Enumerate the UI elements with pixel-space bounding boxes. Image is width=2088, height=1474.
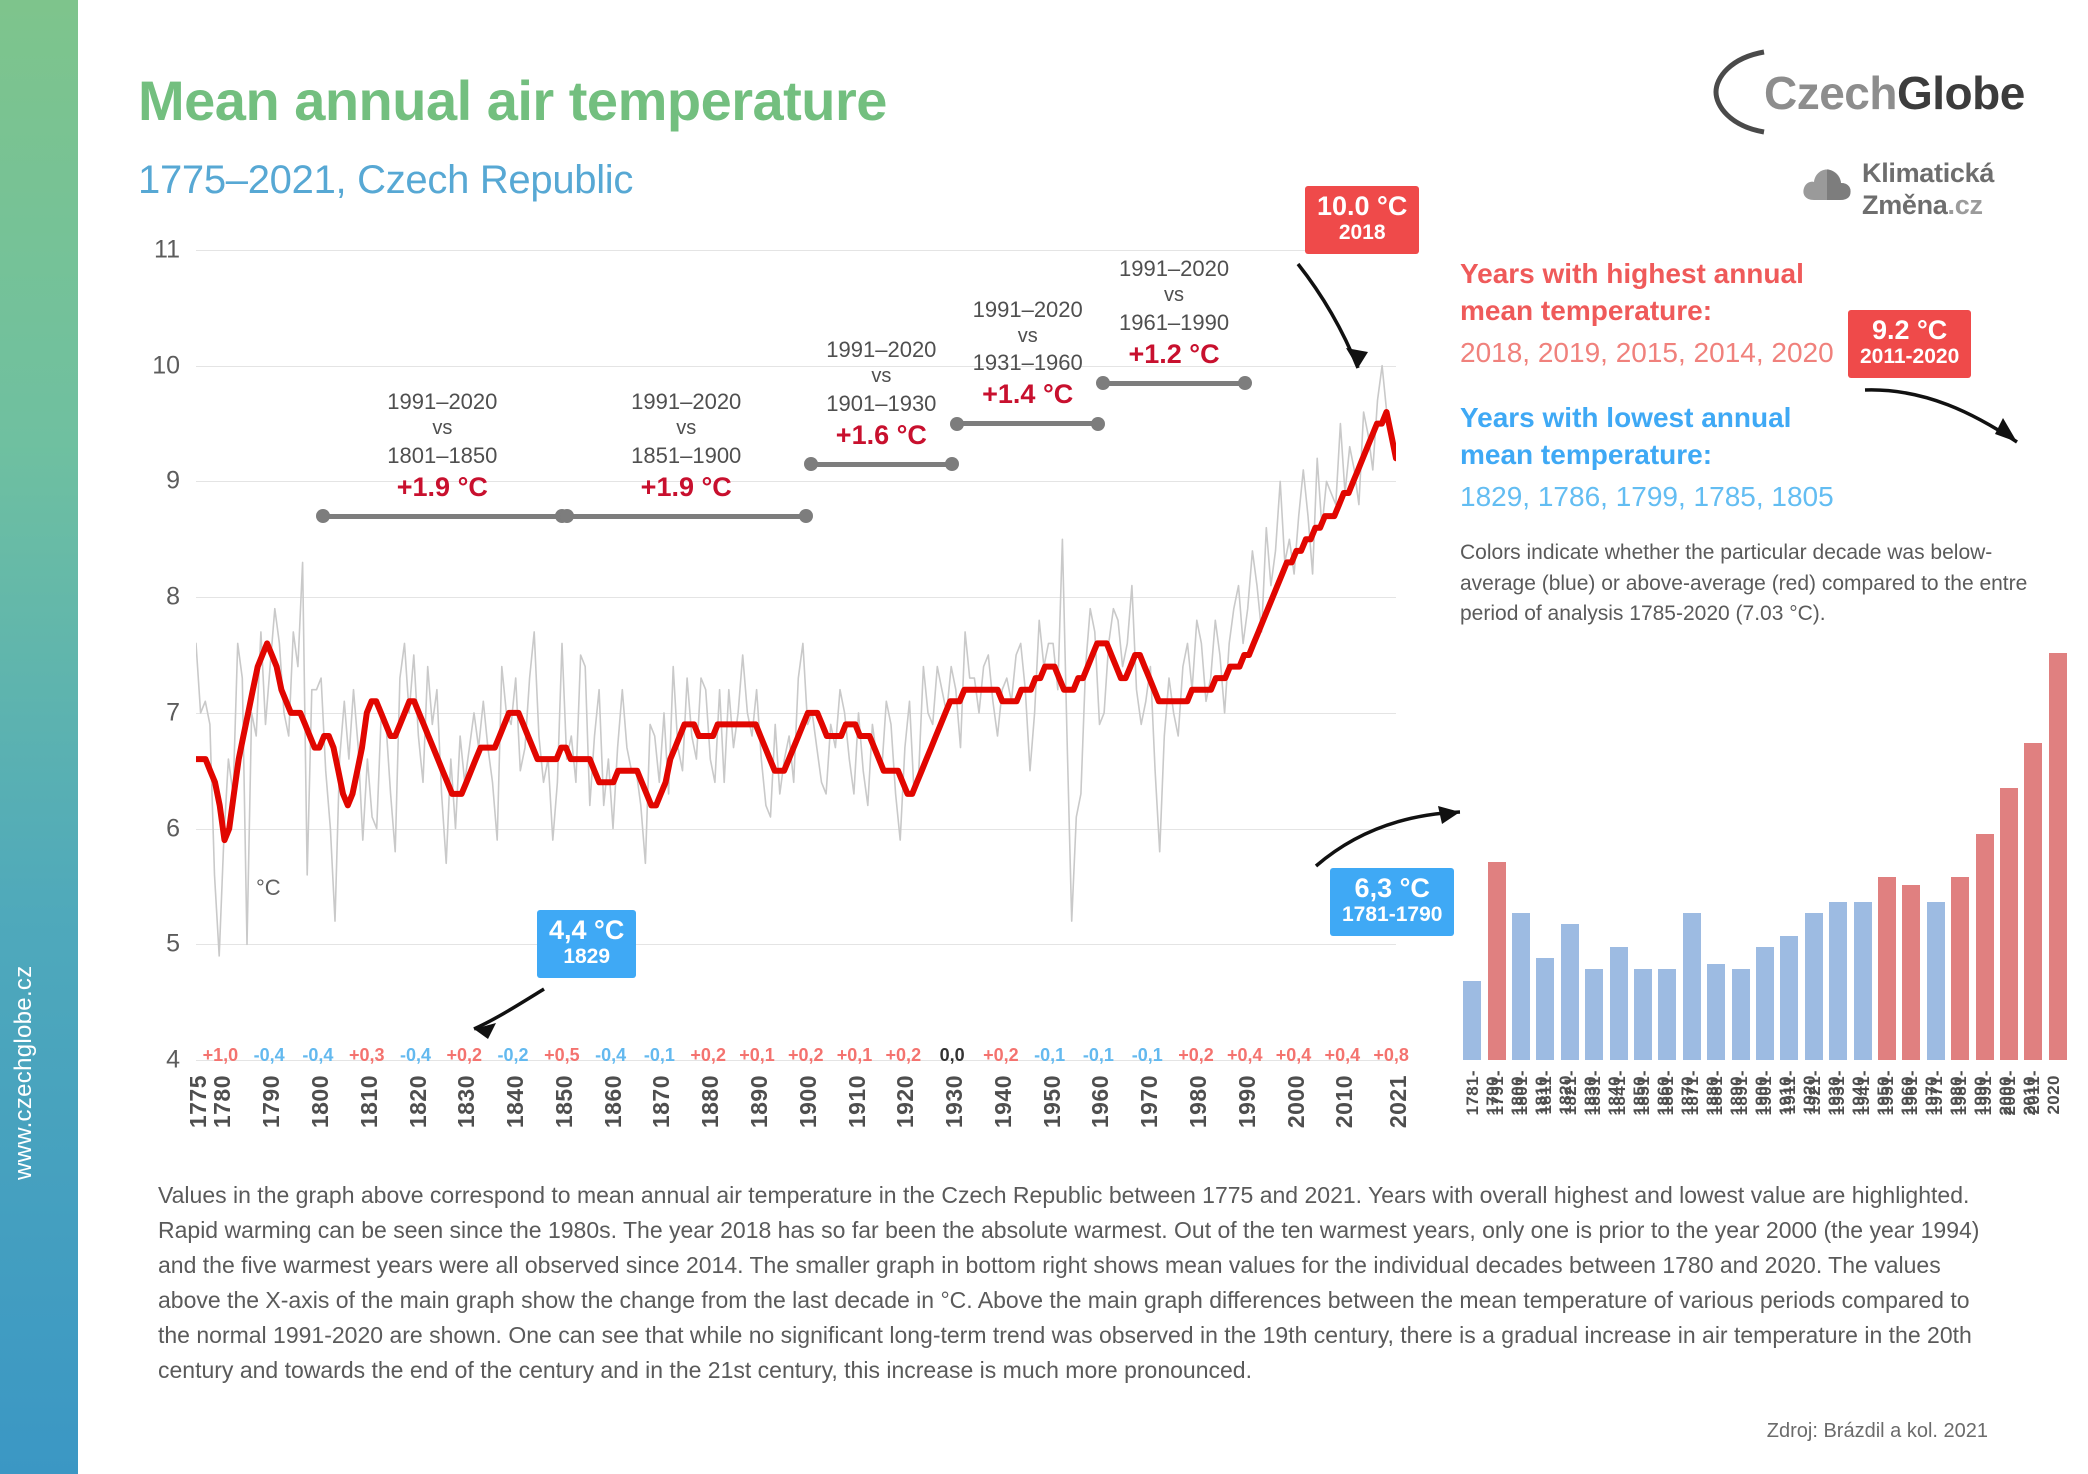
- brand-sidebar: www.czechglobe.cz: [0, 0, 78, 1474]
- czechglobe-word-globe: Globe: [1897, 67, 2025, 119]
- decadal-change-value: -0,1: [1034, 1045, 1065, 1066]
- x-axis-tick: 1870: [648, 1075, 675, 1128]
- comparison-vs: vs: [826, 364, 936, 390]
- klimaticka-line1: Klimatická: [1862, 158, 1994, 190]
- comparison-range-endpoint: [1096, 376, 1110, 390]
- decadal-change-value: -0,1: [1083, 1045, 1114, 1066]
- decade-label: 2011-2020: [2024, 1070, 2064, 1115]
- decade-bar: [1634, 969, 1652, 1060]
- source-credit: Zdroj: Brázdil a kol. 2021: [1767, 1420, 1988, 1443]
- comparison-range-bar: [811, 462, 952, 467]
- decade-bar: [1463, 981, 1481, 1060]
- y-axis-tick: 9: [140, 467, 180, 496]
- decadal-change-value: -0,4: [400, 1045, 431, 1066]
- comparison-period-b: 1901–1930: [826, 390, 936, 418]
- decade-bar: [1976, 834, 1994, 1060]
- decade-bar: [1512, 913, 1530, 1060]
- callout-warmest-decade-value: 9.2 °C: [1860, 316, 1959, 344]
- comparison-value: +1.9 °C: [631, 472, 741, 503]
- x-axis-tick: 1970: [1136, 1075, 1163, 1128]
- description-paragraph: Values in the graph above correspond to …: [158, 1178, 1988, 1388]
- page-subtitle: 1775–2021, Czech Republic: [138, 158, 633, 203]
- comparison-value: +1.9 °C: [387, 472, 497, 503]
- x-axis-tick: 1820: [405, 1075, 432, 1128]
- callout-warmest-decade: 9.2 °C 2011-2020: [1848, 310, 1971, 378]
- main-temperature-chart: °C 1110987654 1991–2020vs1801–1850+1.9 °…: [138, 230, 1438, 1080]
- comparison-range-endpoint: [945, 457, 959, 471]
- x-axis-tick: 1800: [307, 1075, 334, 1128]
- x-axis-tick: 2021: [1385, 1075, 1412, 1128]
- decade-bar: [1707, 964, 1725, 1060]
- decadal-change-value: -0,4: [254, 1045, 285, 1066]
- comparison-range-endpoint: [1091, 417, 1105, 431]
- x-axis-tick: 1920: [892, 1075, 919, 1128]
- comparison-label: 1991–2020vs1851–1900+1.9 °C: [631, 388, 741, 503]
- klimaticka-line2: Změna: [1862, 190, 1948, 220]
- czechglobe-word-czech: Czech: [1764, 67, 1897, 119]
- comparison-value: +1.2 °C: [1119, 339, 1229, 370]
- x-axis-tick: 1990: [1234, 1075, 1261, 1128]
- callout-warmest-decade-period: 2011-2020: [1860, 344, 1959, 369]
- klimaticka-zmena-logo: Klimatická Změna.cz: [1800, 158, 2068, 230]
- y-axis-tick: 6: [140, 814, 180, 843]
- x-axis-tick: 1910: [844, 1075, 871, 1128]
- czechglobe-arc-icon: [1712, 48, 1772, 136]
- decade-bar: [1561, 924, 1579, 1060]
- comparison-label: 1991–2020vs1901–1930+1.6 °C: [826, 336, 936, 451]
- y-axis-tick: 11: [140, 236, 180, 265]
- comparison-range-bar: [957, 421, 1098, 426]
- comparison-period-b: 1851–1900: [631, 442, 741, 470]
- decadal-change-value: +0,2: [886, 1045, 922, 1066]
- comparison-range-endpoint: [799, 509, 813, 523]
- x-axis-tick: 1780: [209, 1075, 236, 1128]
- page-title: Mean annual air temperature: [138, 68, 887, 133]
- czechglobe-logo: CzechGlobe: [1712, 48, 2068, 136]
- main-plot-area: 1110987654 1991–2020vs1801–1850+1.9 °C19…: [196, 250, 1396, 1060]
- comparison-range-endpoint: [950, 417, 964, 431]
- comparison-period-a: 1991–2020: [1119, 255, 1229, 283]
- decade-bar: [1951, 877, 1969, 1060]
- comparison-period-a: 1991–2020: [973, 296, 1083, 324]
- decade-bar: [1683, 913, 1701, 1060]
- decade-bar: [1536, 958, 1554, 1060]
- decade-bar: [1488, 862, 1506, 1060]
- comparison-range-endpoint: [804, 457, 818, 471]
- decade-bar: [1927, 902, 1945, 1060]
- decade-bar: [1878, 877, 1896, 1060]
- comparison-range-bar: [567, 514, 806, 519]
- callout-coldest-decade-period: 1781-1790: [1342, 902, 1442, 927]
- decadal-change-value: +1,0: [203, 1045, 239, 1066]
- comparison-vs: vs: [973, 324, 1083, 350]
- klimaticka-wordmark: Klimatická Změna.cz: [1862, 158, 1994, 222]
- x-axis-tick: 1950: [1039, 1075, 1066, 1128]
- comparison-value: +1.6 °C: [826, 420, 936, 451]
- callout-coldest-year: 4,4 °C 1829: [537, 910, 636, 978]
- x-axis-tick: 1880: [697, 1075, 724, 1128]
- x-axis-tick: 1980: [1185, 1075, 1212, 1128]
- x-axis-tick: 1940: [990, 1075, 1017, 1128]
- comparison-vs: vs: [387, 416, 497, 442]
- decadal-change-value: +0,4: [1276, 1045, 1312, 1066]
- x-axis-tick: 1860: [600, 1075, 627, 1128]
- callout-coldest-value: 4,4 °C: [549, 916, 624, 944]
- callout-coldest-decade-value: 6,3 °C: [1342, 874, 1442, 902]
- x-axis-tick: 1900: [795, 1075, 822, 1128]
- decade-bar: [1732, 969, 1750, 1060]
- callout-coldest-year-label: 1829: [549, 944, 624, 969]
- y-axis-tick: 4: [140, 1046, 180, 1075]
- cloud-icon: [1800, 164, 1854, 204]
- callout-warmest-year: 10.0 °C 2018: [1305, 186, 1419, 254]
- y-axis-tick: 8: [140, 583, 180, 612]
- comparison-vs: vs: [631, 416, 741, 442]
- comparison-period-b: 1961–1990: [1119, 309, 1229, 337]
- decade-bar: [1610, 947, 1628, 1060]
- comparison-range-endpoint: [560, 509, 574, 523]
- arrow-to-warmest-decade-bar: [1855, 372, 2055, 482]
- decadal-change-value: +0,8: [1373, 1045, 1409, 1066]
- y-axis-tick: 5: [140, 930, 180, 959]
- comparison-range-bar: [1103, 381, 1244, 386]
- x-axis-tick: 1840: [502, 1075, 529, 1128]
- comparison-period-a: 1991–2020: [387, 388, 497, 416]
- highest-years-heading-line1: Years with highest annual: [1460, 255, 2060, 292]
- lowest-years-list: 1829, 1786, 1799, 1785, 1805: [1460, 477, 2060, 516]
- decadal-change-value: +0,4: [1227, 1045, 1263, 1066]
- x-axis-tick: 1930: [941, 1075, 968, 1128]
- decade-bar: [1805, 913, 1823, 1060]
- x-axis-tick: 1830: [453, 1075, 480, 1128]
- x-axis-tick: 2000: [1283, 1075, 1310, 1128]
- x-axis-tick: 1960: [1087, 1075, 1114, 1128]
- sidebar-website-url[interactable]: www.czechglobe.cz: [10, 880, 38, 1180]
- comparison-value: +1.4 °C: [973, 379, 1083, 410]
- decadal-change-value: -0,4: [595, 1045, 626, 1066]
- klimaticka-tld: .cz: [1948, 190, 1983, 220]
- decade-bar: [1756, 947, 1774, 1060]
- x-axis-tick: 2010: [1331, 1075, 1358, 1128]
- comparison-vs: vs: [1119, 283, 1229, 309]
- y-axis-tick: 7: [140, 698, 180, 727]
- decade-bar: [1829, 902, 1847, 1060]
- decade-bar: [2000, 788, 2018, 1060]
- callout-warmest-year-label: 2018: [1317, 220, 1407, 245]
- decadal-change-value: +0,3: [349, 1045, 385, 1066]
- decade-bar: [1780, 936, 1798, 1060]
- y-axis-tick: 10: [140, 351, 180, 380]
- decade-bar: [1902, 885, 1920, 1060]
- comparison-period-a: 1991–2020: [826, 336, 936, 364]
- x-axis-tick: 1850: [551, 1075, 578, 1128]
- decade-bar: [2024, 743, 2042, 1060]
- decadal-change-value: 0,0: [940, 1045, 965, 1066]
- decadal-change-value: +0,1: [837, 1045, 873, 1066]
- temperature-series: [196, 250, 1396, 1060]
- decadal-change-value: -0,4: [302, 1045, 333, 1066]
- comparison-period-a: 1991–2020: [631, 388, 741, 416]
- comparison-label: 1991–2020vs1931–1960+1.4 °C: [973, 296, 1083, 411]
- decadal-change-value: +0,1: [739, 1045, 775, 1066]
- czechglobe-wordmark: CzechGlobe: [1764, 66, 2025, 120]
- arrow-to-coldest-decade-bar: [1300, 778, 1480, 878]
- decade-bar-chart: 1781-17901791-18001801-18101811-18201821…: [1460, 630, 2070, 1060]
- decadal-change-value: -0,1: [1132, 1045, 1163, 1066]
- arrow-to-coldest-point: [448, 975, 558, 1055]
- decadal-change-value: +0,4: [1325, 1045, 1361, 1066]
- decade-bar: [1585, 969, 1603, 1060]
- comparison-period-b: 1931–1960: [973, 349, 1083, 377]
- decade-bar: [1658, 969, 1676, 1060]
- comparison-label: 1991–2020vs1961–1990+1.2 °C: [1119, 255, 1229, 370]
- comparison-range-endpoint: [316, 509, 330, 523]
- x-axis-tick: 1790: [258, 1075, 285, 1128]
- decadal-change-value: +0,2: [983, 1045, 1019, 1066]
- decadal-change-value: -0,1: [644, 1045, 675, 1066]
- comparison-period-b: 1801–1850: [387, 442, 497, 470]
- annual-mean-line: [196, 366, 1396, 956]
- decade-bar: [1854, 902, 1872, 1060]
- comparison-label: 1991–2020vs1801–1850+1.9 °C: [387, 388, 497, 503]
- decadal-change-value: +0,2: [690, 1045, 726, 1066]
- x-axis-tick: 1810: [356, 1075, 383, 1128]
- callout-warmest-value: 10.0 °C: [1317, 192, 1407, 220]
- decadal-change-value: +0,2: [1178, 1045, 1214, 1066]
- x-axis-tick: 1890: [746, 1075, 773, 1128]
- callout-coldest-decade: 6,3 °C 1781-1790: [1330, 868, 1454, 936]
- arrow-to-warmest-point: [1250, 250, 1400, 410]
- comparison-range-bar: [323, 514, 562, 519]
- x-axis-tick: 1775: [185, 1075, 212, 1128]
- color-legend-note: Colors indicate whether the particular d…: [1460, 538, 2060, 629]
- decadal-change-value: +0,2: [788, 1045, 824, 1066]
- decade-bar: [2049, 653, 2067, 1060]
